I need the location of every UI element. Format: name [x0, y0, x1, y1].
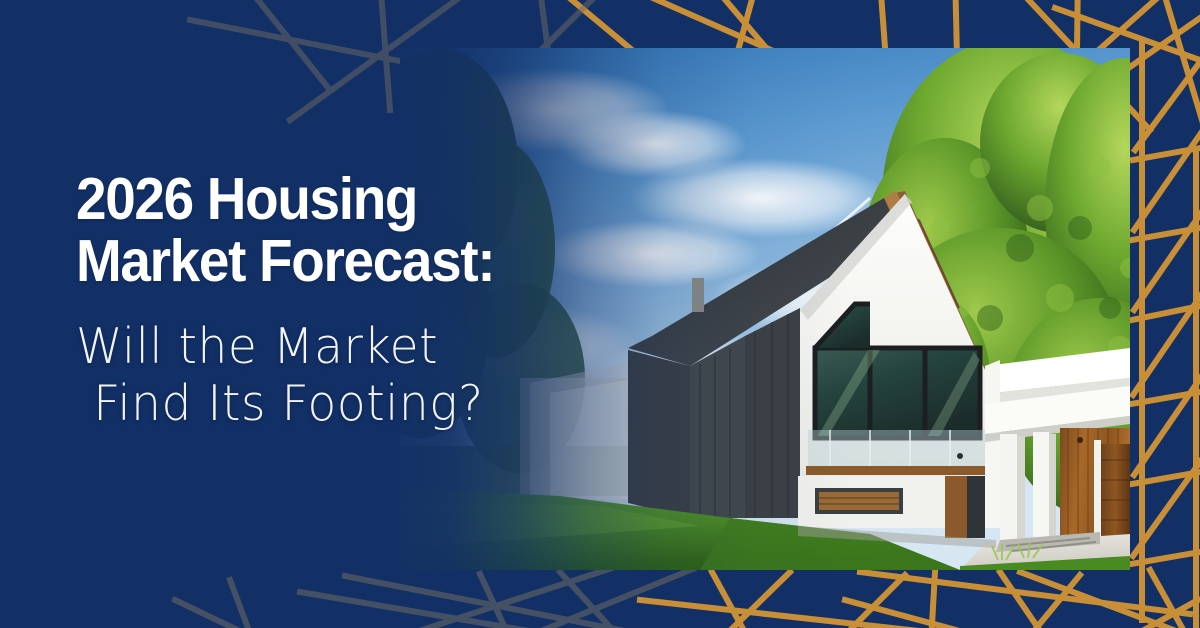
headline-block: 2026 Housing Market Forecast: Will the M…: [76, 168, 676, 432]
subtitle-line-2: Find Its Footing?: [76, 375, 652, 432]
title-line-2: Market Forecast:: [76, 230, 634, 292]
subtitle-line-1: Will the Market: [76, 318, 652, 375]
title-line-1: 2026 Housing: [76, 168, 634, 230]
housing-market-forecast-banner: 2026 Housing Market Forecast: Will the M…: [0, 0, 1200, 628]
subtitle-block: Will the Market Find Its Footing?: [76, 318, 676, 432]
